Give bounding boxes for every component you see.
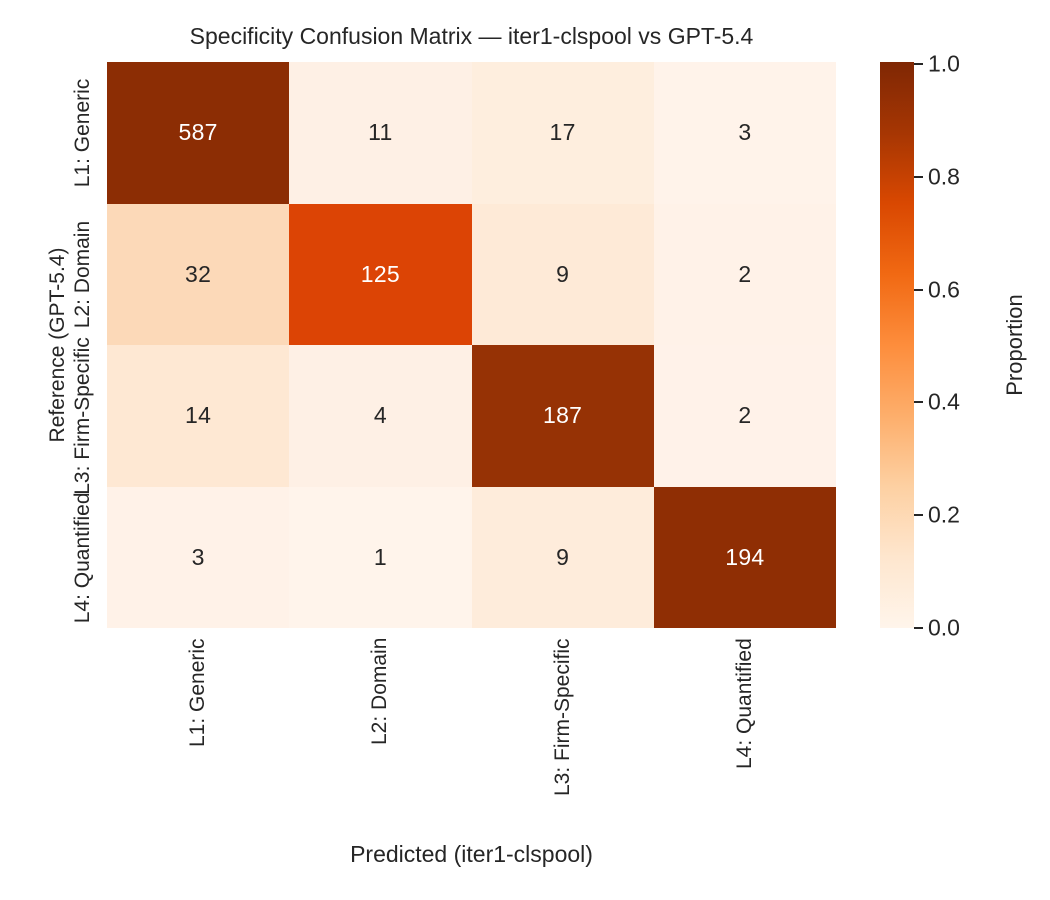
- x-tick-label-2: L3: Firm-Specific: [551, 638, 575, 796]
- cell-value: 2: [738, 263, 751, 286]
- cell-value: 11: [368, 121, 392, 144]
- cell-value: 125: [361, 263, 400, 286]
- heatmap-cell-r0c0[interactable]: 587: [107, 62, 289, 204]
- colorbar-gradient: [880, 62, 914, 628]
- heatmap-cell-r0c3[interactable]: 3: [654, 62, 836, 204]
- cell-value: 14: [185, 404, 211, 427]
- x-tick-label-0: L1: Generic: [186, 638, 210, 747]
- colorbar-tick-label-2: 0.4: [928, 389, 960, 416]
- cell-value: 187: [543, 404, 582, 427]
- cell-value: 3: [192, 546, 205, 569]
- heatmap-cell-r3c3[interactable]: 194: [654, 487, 836, 629]
- x-tick-label-1-wrap: L2: Domain: [289, 638, 471, 662]
- cell-value: 194: [725, 546, 764, 569]
- heatmap-cell-r3c2[interactable]: 9: [472, 487, 654, 629]
- colorbar-tickmark-4: [914, 176, 923, 178]
- colorbar-title: Proportion: [1002, 62, 1028, 628]
- colorbar-tickmark-1: [914, 514, 923, 516]
- heatmap-cell-r3c0[interactable]: 3: [107, 487, 289, 629]
- page-title: Specificity Confusion Matrix — iter1-cls…: [107, 23, 836, 50]
- cell-value: 4: [374, 404, 387, 427]
- x-tick-label-2-wrap: L3: Firm-Specific: [472, 638, 654, 662]
- heatmap-cell-r0c2[interactable]: 17: [472, 62, 654, 204]
- colorbar-tickmark-5: [914, 63, 923, 65]
- x-axis-title: Predicted (iter1-clspool): [107, 841, 836, 868]
- cell-value: 17: [550, 121, 576, 144]
- heatmap-cell-r1c3[interactable]: 2: [654, 204, 836, 346]
- y-tick-label-3-wrap: L4: Quantified: [95, 487, 96, 629]
- y-tick-label-1-wrap: L2: Domain: [95, 204, 96, 346]
- colorbar-tick-label-3: 0.6: [928, 276, 960, 303]
- y-tick-label-2-wrap: L3: Firm-Specific: [95, 345, 96, 487]
- x-tick-label-3-wrap: L4: Quantified: [654, 638, 836, 662]
- colorbar-tick-label-0: 0.0: [928, 615, 960, 642]
- cell-value: 3: [738, 121, 751, 144]
- heatmap-cell-r2c3[interactable]: 2: [654, 345, 836, 487]
- heatmap-cell-r2c2[interactable]: 187: [472, 345, 654, 487]
- heatmap-cell-r1c0[interactable]: 32: [107, 204, 289, 346]
- colorbar-tickmark-3: [914, 289, 923, 291]
- heatmap-cell-r3c1[interactable]: 1: [289, 487, 471, 629]
- heatmap-cell-r2c0[interactable]: 14: [107, 345, 289, 487]
- colorbar-tick-label-4: 0.8: [928, 163, 960, 190]
- heatmap-cell-r1c1[interactable]: 125: [289, 204, 471, 346]
- cell-value: 9: [556, 263, 569, 286]
- cell-value: 2: [738, 404, 751, 427]
- colorbar-tickmark-2: [914, 401, 923, 403]
- x-tick-label-3: L4: Quantified: [733, 638, 757, 769]
- colorbar-tickmark-0: [914, 627, 923, 629]
- cell-value: 587: [178, 121, 217, 144]
- y-tick-label-0-wrap: L1: Generic: [95, 62, 96, 204]
- heatmap-grid: 587 11 17 3 32 125 9 2 14 4 187: [107, 62, 836, 628]
- y-tick-label-2: L3: Firm-Specific: [71, 337, 95, 495]
- x-tick-label-0-wrap: L1: Generic: [107, 638, 289, 662]
- heatmap-cell-r0c1[interactable]: 11: [289, 62, 471, 204]
- cell-value: 32: [185, 263, 211, 286]
- x-tick-label-1: L2: Domain: [368, 638, 392, 745]
- cell-value: 9: [556, 546, 569, 569]
- colorbar-tick-label-5: 1.0: [928, 51, 960, 78]
- y-tick-label-1: L2: Domain: [71, 220, 95, 327]
- heatmap-cell-r2c1[interactable]: 4: [289, 345, 471, 487]
- y-axis-title: Reference (GPT-5.4): [46, 62, 70, 628]
- cell-value: 1: [374, 546, 387, 569]
- y-tick-label-3: L4: Quantified: [71, 492, 95, 623]
- colorbar-tick-label-1: 0.2: [928, 502, 960, 529]
- heatmap-cell-r1c2[interactable]: 9: [472, 204, 654, 346]
- confusion-matrix-figure: Specificity Confusion Matrix — iter1-cls…: [0, 0, 1050, 900]
- y-tick-label-0: L1: Generic: [71, 79, 95, 188]
